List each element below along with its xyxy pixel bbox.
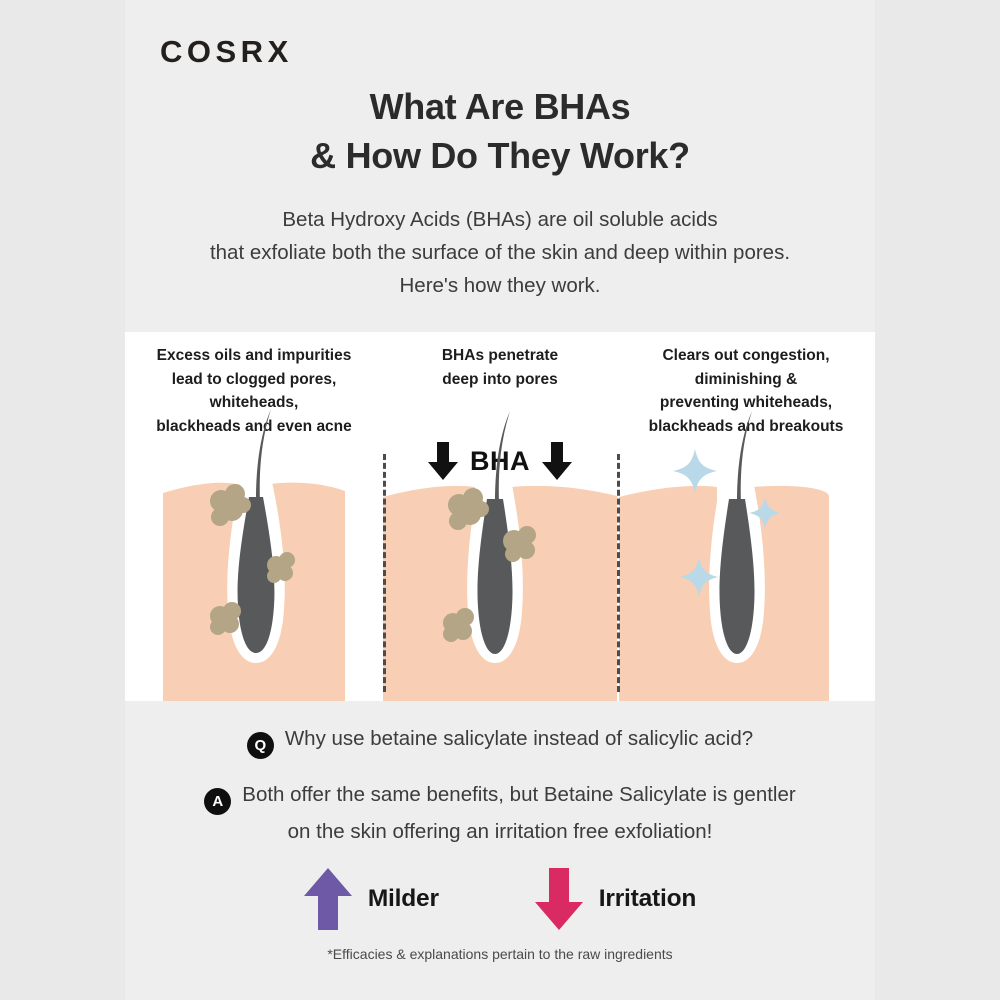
panel-1-caption-line-2: lead to clogged pores, [125,368,383,392]
panel-1-caption-line-1: Excess oils and impurities [125,344,383,368]
panel-clear-pores: Clears out congestion, diminishing & pre… [617,332,875,701]
headline-line-1: What Are BHAs [125,82,875,131]
intro-line-2: that exfoliate both the surface of the s… [125,236,875,269]
page-title: What Are BHAs & How Do They Work? [125,82,875,180]
panel-3-caption-line-2: diminishing & [617,368,875,392]
intro-paragraph: Beta Hydroxy Acids (BHAs) are oil solubl… [125,203,875,302]
faq-question-row: QWhy use betaine salicylate instead of s… [125,722,875,759]
faq-question-text: Why use betaine salicylate instead of sa… [285,727,753,750]
legend-label-milder: Milder [368,885,439,913]
follicle-penetrating-icon [383,401,617,701]
panel-clogged-pores: Excess oils and impurities lead to clogg… [125,332,383,701]
arrow-up-icon [304,868,352,930]
follicle-clogged-icon [125,401,383,701]
follicle-clear-icon [617,401,875,701]
arrow-down-icon [535,868,583,930]
legend-label-irritation: Irritation [599,885,696,913]
brand-logo: COSRX [160,34,293,70]
intro-line-3: Here's how they work. [125,269,875,302]
faq-answer-line-2: on the skin offering an irritation free … [125,815,875,848]
infographic-page: COSRX What Are BHAs & How Do They Work? … [0,0,1000,1000]
panel-bha-penetrate: BHAs penetrate deep into pores BHA [383,332,617,701]
panel-2-caption-line-1: BHAs penetrate [383,344,617,368]
headline-line-2: & How Do They Work? [125,131,875,180]
legend-item-irritation: Irritation [535,868,696,930]
panel-divider-1 [383,454,386,692]
faq-answer-row: ABoth offer the same benefits, but Betai… [125,778,875,848]
intro-line-1: Beta Hydroxy Acids (BHAs) are oil solubl… [125,203,875,236]
question-badge: Q [247,732,274,759]
panel-2-caption-line-2: deep into pores [383,368,617,392]
panel-divider-2 [617,454,620,692]
arrow-legend: Milder Irritation [125,862,875,936]
answer-badge: A [204,788,231,815]
panel-3-caption-line-1: Clears out congestion, [617,344,875,368]
footnote: *Efficacies & explanations pertain to th… [125,946,875,962]
legend-item-milder: Milder [304,868,439,930]
diagram-card: Excess oils and impurities lead to clogg… [125,332,875,701]
panel-2-caption: BHAs penetrate deep into pores [383,344,617,391]
faq-answer-line-1: Both offer the same benefits, but Betain… [242,783,795,806]
